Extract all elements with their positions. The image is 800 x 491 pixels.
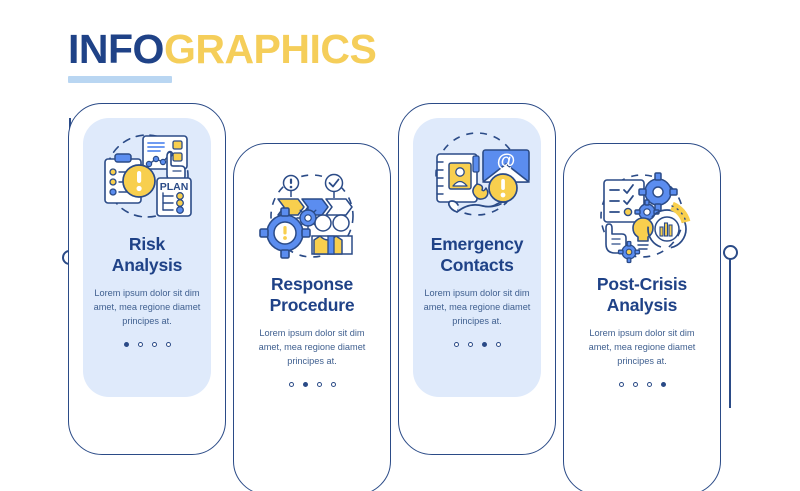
- card-post-crisis-analysis-content: Post-Crisis Analysis Lorem ipsum dolor s…: [578, 164, 706, 387]
- card-response-procedure[interactable]: Response Procedure Lorem ipsum dolor sit…: [233, 143, 391, 491]
- card-title-line-2: Procedure: [270, 295, 355, 316]
- card-title-line-1: Risk: [112, 234, 182, 255]
- step-dot-2[interactable]: [468, 342, 473, 347]
- step-dot-1[interactable]: [124, 342, 129, 347]
- step-dot-2[interactable]: [633, 382, 638, 387]
- page-title-primary: INFO: [68, 26, 164, 72]
- step-dot-4[interactable]: [331, 382, 336, 387]
- step-dot-3[interactable]: [482, 342, 487, 347]
- step-dot-1[interactable]: [289, 382, 294, 387]
- card-title-line-2: Contacts: [431, 255, 524, 276]
- card-risk-analysis-content: PLAN Risk Analysis Lorem ipsum dolor sit: [83, 124, 211, 347]
- page-title-secondary: GRAPHICS: [164, 26, 376, 72]
- card-title-line-2: Analysis: [597, 295, 687, 316]
- step-dot-2[interactable]: [138, 342, 143, 347]
- card-emergency-contacts-description: Lorem ipsum dolor sit dim amet, mea regi…: [416, 286, 538, 329]
- risk-analysis-icon: PLAN: [91, 124, 203, 228]
- at-symbol-glyph: @: [497, 151, 516, 172]
- card-emergency-contacts-title: Emergency Contacts: [431, 234, 524, 277]
- step-dot-3[interactable]: [317, 382, 322, 387]
- post-crisis-analysis-icon: [586, 164, 698, 268]
- plan-card-label: PLAN: [160, 181, 189, 193]
- card-emergency-contacts[interactable]: @ Emergency Contacts Lore: [398, 103, 556, 455]
- timeline-end-knob: [723, 245, 738, 260]
- page-title: INFOGRAPHICS: [68, 28, 376, 71]
- step-dot-3[interactable]: [152, 342, 157, 347]
- page-header: INFOGRAPHICS: [68, 28, 376, 83]
- card-title-line-2: Analysis: [112, 255, 182, 276]
- timeline-rail-right: [729, 258, 731, 408]
- step-dot-1[interactable]: [619, 382, 624, 387]
- card-response-procedure-title: Response Procedure: [270, 274, 355, 317]
- card-post-crisis-analysis-step-dots[interactable]: [619, 382, 666, 387]
- card-risk-analysis-title: Risk Analysis: [112, 234, 182, 277]
- card-response-procedure-description: Lorem ipsum dolor sit dim amet, mea regi…: [251, 326, 373, 369]
- emergency-contacts-icon: @: [421, 124, 533, 228]
- card-post-crisis-analysis-description: Lorem ipsum dolor sit dim amet, mea regi…: [581, 326, 703, 369]
- card-emergency-contacts-step-dots[interactable]: [454, 342, 501, 347]
- card-response-procedure-step-dots[interactable]: [289, 382, 336, 387]
- card-title-line-1: Emergency: [431, 234, 524, 255]
- card-risk-analysis[interactable]: PLAN Risk Analysis Lorem ipsum dolor sit: [68, 103, 226, 455]
- card-title-line-1: Response: [270, 274, 355, 295]
- step-dot-3[interactable]: [647, 382, 652, 387]
- step-dot-4[interactable]: [496, 342, 501, 347]
- step-dot-4[interactable]: [166, 342, 171, 347]
- step-dot-1[interactable]: [454, 342, 459, 347]
- title-underline-rule: [68, 76, 172, 83]
- step-dot-2[interactable]: [303, 382, 308, 387]
- card-post-crisis-analysis-title: Post-Crisis Analysis: [597, 274, 687, 317]
- card-risk-analysis-description: Lorem ipsum dolor sit dim amet, mea regi…: [86, 286, 208, 329]
- card-response-procedure-content: Response Procedure Lorem ipsum dolor sit…: [248, 164, 376, 387]
- card-risk-analysis-step-dots[interactable]: [124, 342, 171, 347]
- card-emergency-contacts-content: @ Emergency Contacts Lore: [413, 124, 541, 347]
- card-title-line-1: Post-Crisis: [597, 274, 687, 295]
- step-dot-4[interactable]: [661, 382, 666, 387]
- card-post-crisis-analysis[interactable]: Post-Crisis Analysis Lorem ipsum dolor s…: [563, 143, 721, 491]
- response-procedure-icon: [256, 164, 368, 268]
- infographic-canvas: INFOGRAPHICS: [0, 0, 800, 491]
